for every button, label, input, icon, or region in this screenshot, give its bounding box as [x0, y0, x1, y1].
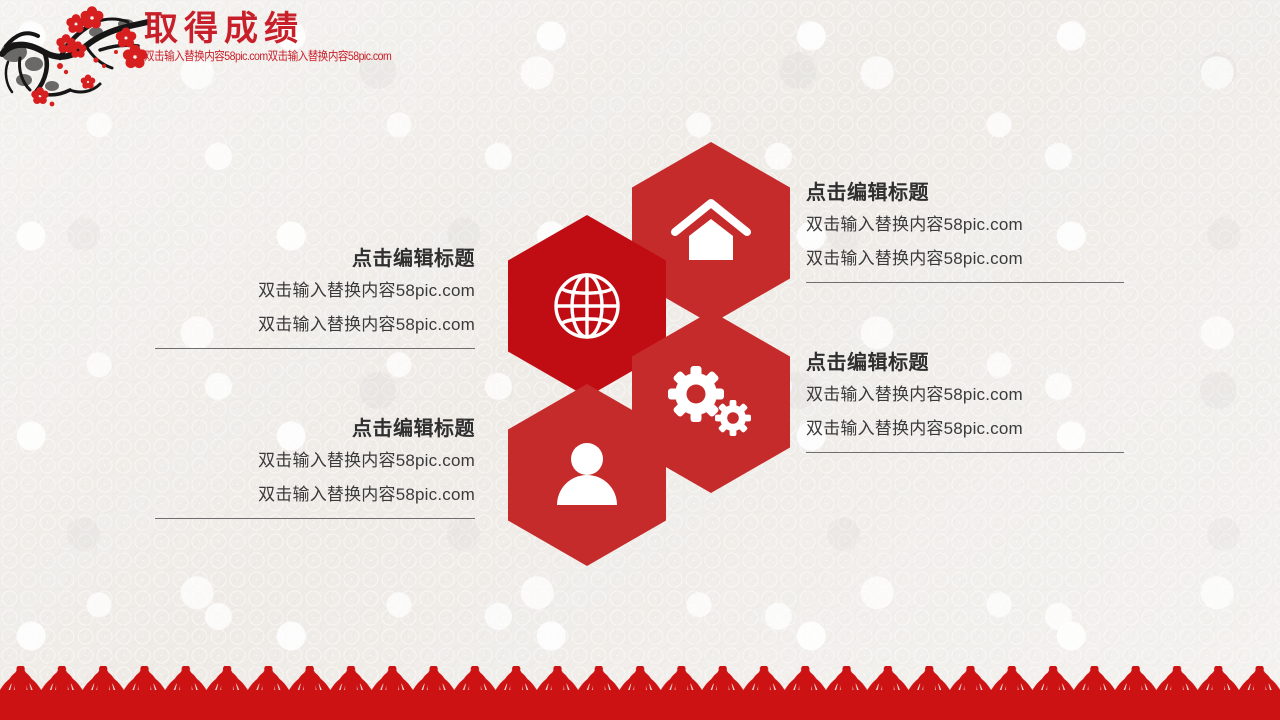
block-line-1: 双击输入替换内容58pic.com: [155, 444, 475, 478]
plum-blossom-branch-icon: [0, 0, 152, 108]
text-block-person: 点击编辑标题 双击输入替换内容58pic.com 双击输入替换内容58pic.c…: [155, 414, 475, 519]
block-line-2: 双击输入替换内容58pic.com: [155, 478, 475, 512]
block-line-2: 双击输入替换内容58pic.com: [806, 412, 1136, 446]
palmette-border-ornament-icon: [0, 666, 1280, 694]
text-block-home: 点击编辑标题 双击输入替换内容58pic.com 双击输入替换内容58pic.c…: [806, 178, 1136, 283]
block-line-2: 双击输入替换内容58pic.com: [806, 242, 1136, 276]
block-title: 点击编辑标题: [155, 244, 475, 274]
page-subtitle: 双击输入替换内容58pic.com双击输入替换内容58pic.com: [144, 49, 619, 64]
block-title: 点击编辑标题: [806, 178, 1136, 208]
text-block-gears: 点击编辑标题 双击输入替换内容58pic.com 双击输入替换内容58pic.c…: [806, 348, 1136, 453]
block-title: 点击编辑标题: [155, 414, 475, 444]
footer-ornament-band: [0, 658, 1280, 720]
block-title: 点击编辑标题: [806, 348, 1136, 378]
block-divider: [155, 348, 475, 349]
footer-solid-bar: [0, 690, 1280, 720]
block-line-1: 双击输入替换内容58pic.com: [806, 208, 1136, 242]
block-divider: [806, 452, 1124, 453]
block-divider: [155, 518, 475, 519]
header: 取得成绩 双击输入替换内容58pic.com双击输入替换内容58pic.com: [144, 8, 684, 64]
block-line-1: 双击输入替换内容58pic.com: [806, 378, 1136, 412]
slide-canvas: 取得成绩 双击输入替换内容58pic.com双击输入替换内容58pic.com: [0, 0, 1280, 720]
page-title: 取得成绩: [144, 8, 684, 50]
block-line-2: 双击输入替换内容58pic.com: [155, 308, 475, 342]
block-divider: [806, 282, 1124, 283]
block-line-1: 双击输入替换内容58pic.com: [155, 274, 475, 308]
text-block-globe: 点击编辑标题 双击输入替换内容58pic.com 双击输入替换内容58pic.c…: [155, 244, 475, 349]
